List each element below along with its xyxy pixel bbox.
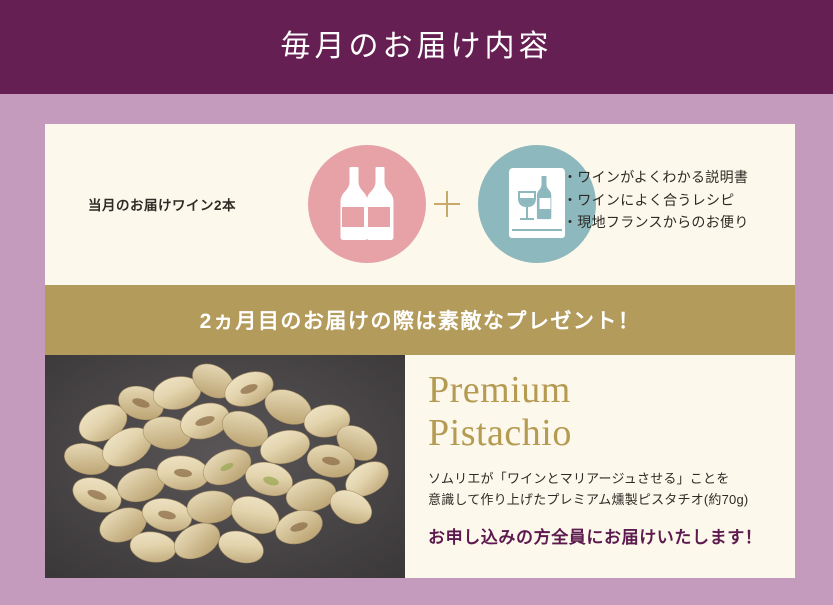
product-cta-text: お申し込みの方全員にお届けいたします！: [428, 523, 762, 548]
list-item: ・ワインによく合うレシピ: [563, 189, 749, 212]
product-section: Premium Pistachio ソムリエが「ワインとマリアージュさせる」こと…: [45, 355, 795, 578]
contents-row: 当月のお届けワイン2本: [45, 124, 795, 285]
pistachio-photo-image: [45, 355, 405, 578]
gift-banner: 2ヵ月目のお届けの際は素敵なプレゼント！: [45, 285, 795, 355]
page-title: 毎月のお届け内容: [281, 32, 553, 62]
product-detail: Premium Pistachio ソムリエが「ワインとマリアージュさせる」こと…: [428, 355, 795, 578]
product-description-line1: ソムリエが「ワインとマリアージュさせる」ことを: [428, 468, 748, 489]
gift-banner-text: 2ヵ月目のお届けの際は素敵なプレゼント！: [200, 305, 641, 335]
product-name-line1: Premium: [428, 369, 572, 412]
product-description: ソムリエが「ワインとマリアージュさせる」ことを 意識して作り上げたプレミアム燻製…: [428, 468, 748, 510]
product-name-line2: Pistachio: [428, 412, 572, 455]
delivery-contents-card: 当月のお届けワイン2本: [45, 124, 795, 578]
wine-bottles-icon: [308, 145, 426, 263]
page-header: 毎月のお届け内容: [0, 0, 833, 94]
pistachio-photo: [45, 355, 405, 578]
included-items-list: ・ワインがよくわかる説明書 ・ワインによく合うレシピ ・現地フランスからのお便り: [563, 166, 749, 234]
list-item: ・現地フランスからのお便り: [563, 211, 749, 234]
plus-icon: [432, 189, 462, 219]
promo-page: 毎月のお届け内容 当月のお届けワイン2本: [0, 0, 833, 605]
product-description-line2: 意識して作り上げたプレミアム燻製ピスタチオ(約70g): [428, 489, 748, 510]
product-name: Premium Pistachio: [428, 369, 572, 455]
list-item: ・ワインがよくわかる説明書: [563, 166, 749, 189]
wine-bottles-badge: [308, 145, 426, 263]
wine-quantity-label: 当月のお届けワイン2本: [88, 194, 236, 214]
